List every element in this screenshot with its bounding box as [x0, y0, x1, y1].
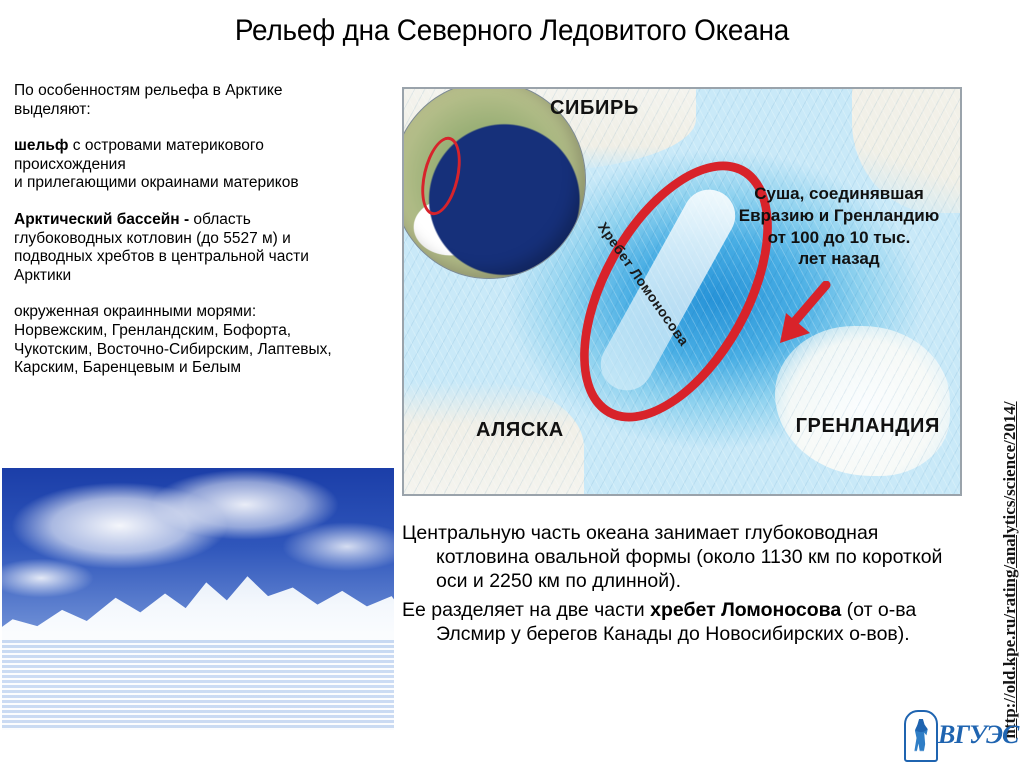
- source-url-container[interactable]: http://old.kpe.ru/rating/analytics/scien…: [996, 395, 1024, 745]
- shelf-paragraph: шельф с островами материкового происхожд…: [14, 137, 344, 174]
- right-bullet-2: Ее разделяет на две части хребет Ломонос…: [402, 599, 974, 647]
- map-caption-line-2: Евразию и Гренландию: [724, 205, 954, 227]
- spacer: [14, 193, 344, 211]
- left-text-column: По особенностям рельефа в Арктике выделя…: [14, 82, 344, 378]
- spacer: [14, 119, 344, 137]
- spacer: [14, 285, 344, 303]
- map-label-siberia: СИБИРЬ: [550, 97, 639, 120]
- right-bullet-1: Центральную часть океана занимает глубок…: [402, 522, 974, 593]
- photo-ice-water: [2, 638, 394, 730]
- basin-term: Арктический бассейн -: [14, 211, 193, 228]
- arctic-seafloor-map: Хребет Ломоносова СИБИРЬ АЛЯСКА ГРЕНЛАНД…: [402, 87, 962, 496]
- map-caption-line-1: Суша, соединявшая: [724, 183, 954, 205]
- right-text-column: Центральную часть океана занимает глубок…: [402, 522, 974, 653]
- source-url-link[interactable]: http://old.kpe.ru/rating/analytics/scien…: [1000, 401, 1020, 738]
- map-label-greenland: ГРЕНЛАНДИЯ: [796, 415, 940, 438]
- shelf-paragraph-line2: и прилегающими окраинами материков: [14, 174, 344, 193]
- right-bullet-2-term: хребет Ломоносова: [650, 599, 841, 621]
- basin-paragraph: Арктический бассейн - область глубоковод…: [14, 211, 344, 285]
- vgues-logo: ВГУЭС: [904, 708, 1016, 762]
- intro-paragraph: По особенностям рельефа в Арктике выделя…: [14, 82, 344, 119]
- intro-text: По особенностям рельефа в Арктике выделя…: [14, 82, 282, 118]
- seas-paragraph: окруженная окраинными морями: Норвежским…: [14, 303, 344, 377]
- map-caption-line-3: от 100 до 10 тыс.: [724, 227, 954, 249]
- page-title: Рельеф дна Северного Ледовитого Океана: [36, 14, 988, 49]
- arctic-mountains-photo: [2, 468, 394, 730]
- logo-figure-icon: [913, 719, 929, 753]
- right-bullet-1-lead: Центральную часть океана занимает: [402, 522, 745, 544]
- logo-wordmark: ВГУЭС: [938, 720, 1018, 750]
- map-caption: Суша, соединявшая Евразию и Гренландию о…: [724, 183, 954, 270]
- right-bullet-2-lead: Ее разделяет на две части: [402, 599, 650, 621]
- shelf-description-2: и прилегающими окраинами материков: [14, 174, 299, 191]
- logo-badge-shape: [904, 710, 938, 762]
- map-caption-line-4: лет назад: [724, 248, 954, 270]
- seas-list: окруженная окраинными морями: Норвежским…: [14, 303, 332, 376]
- shelf-term: шельф: [14, 137, 68, 154]
- globe-highlight-ellipse-icon: [414, 133, 467, 219]
- map-label-alaska: АЛЯСКА: [476, 419, 564, 442]
- red-arrow-icon: [776, 281, 834, 345]
